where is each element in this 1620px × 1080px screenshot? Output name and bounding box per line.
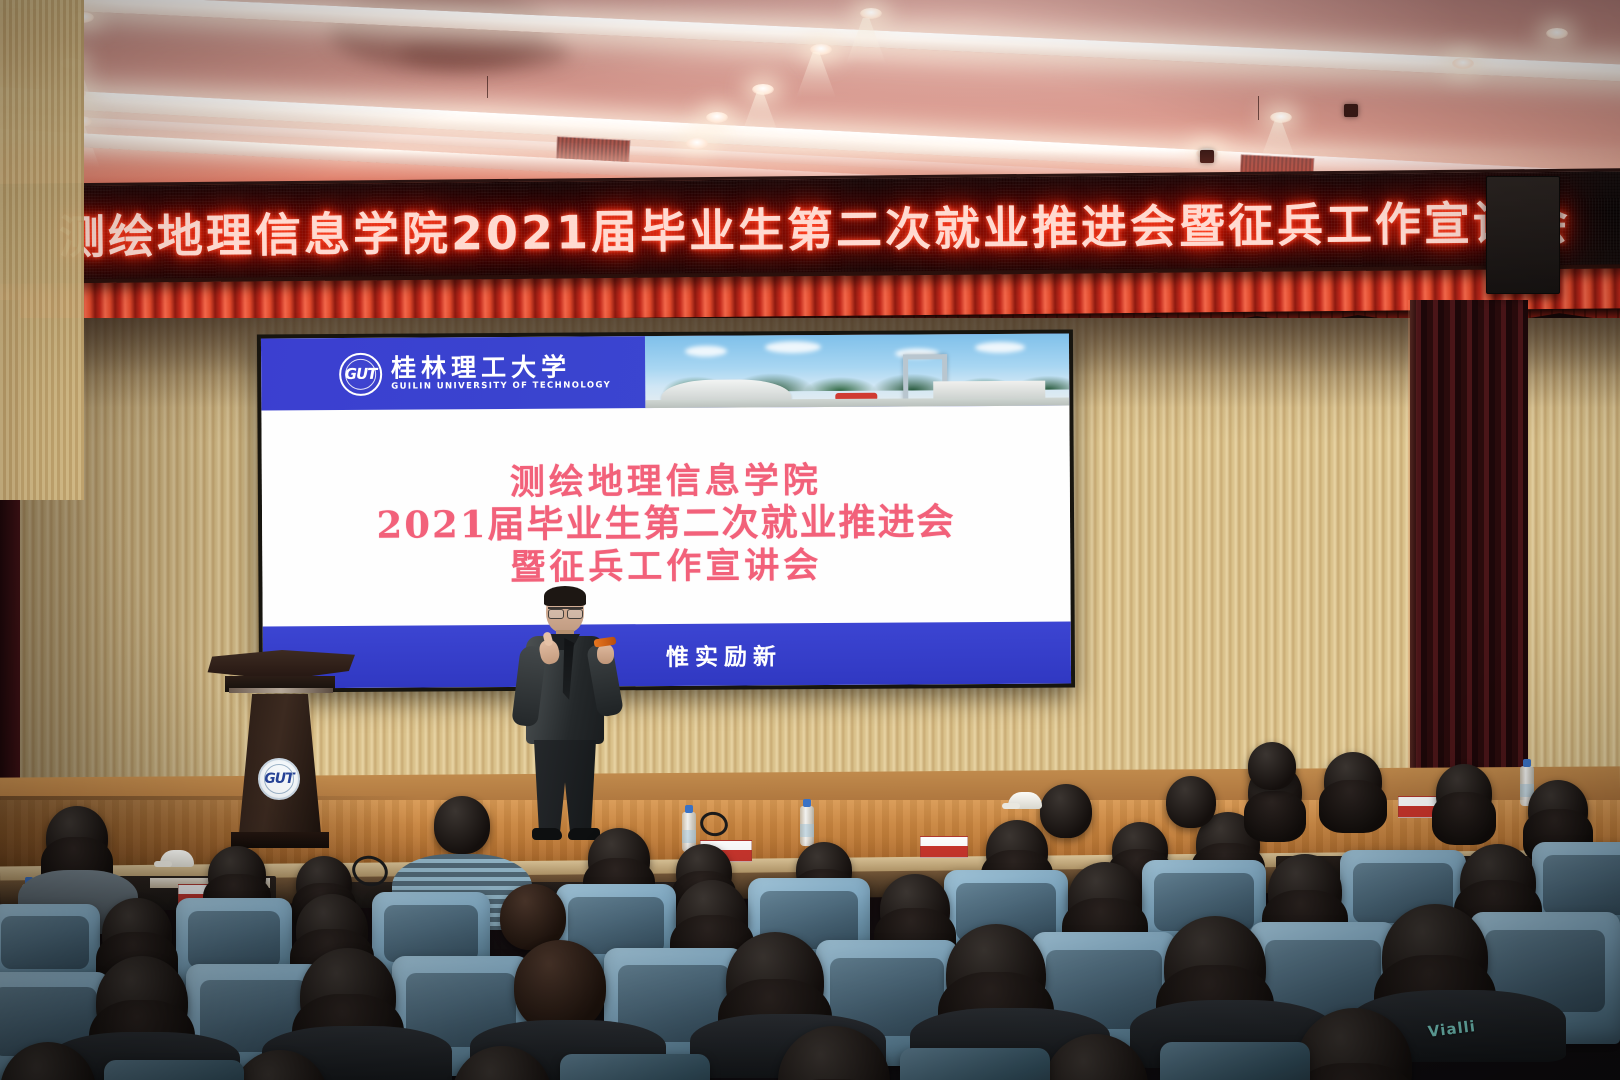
- audience-head: [434, 796, 490, 854]
- ceiling-wire: [1258, 96, 1259, 120]
- auditorium-seat: [560, 1054, 710, 1080]
- audience-head: [1166, 776, 1216, 828]
- ceiling-wire: [487, 76, 488, 98]
- audience-head: [880, 874, 950, 944]
- side-curtain-right: [1410, 300, 1528, 798]
- motto-right: 惟实励新: [666, 637, 782, 672]
- audience-head: [46, 806, 108, 870]
- audience-head: [588, 828, 650, 890]
- audience-head: [676, 880, 748, 952]
- seal-mark-text: GUT: [345, 366, 377, 381]
- podium-seal-mark-text: GUT: [264, 771, 293, 787]
- speaker-legs: [534, 740, 596, 832]
- slide-footer: 笃学 惟实励新: [263, 622, 1071, 689]
- ceiling-downlight: [686, 138, 708, 149]
- podium-university-seal-icon: GUT: [258, 758, 300, 800]
- speaker-hair: [544, 586, 586, 606]
- photo-cloud: [765, 341, 821, 353]
- university-name-en: GUILIN UNIVERSITY OF TECHNOLOGY: [391, 382, 611, 392]
- white-cap: [160, 850, 194, 867]
- slide-title-line-3: 暨征兵工作宣讲会: [510, 545, 822, 588]
- ceiling-downlight: [1546, 28, 1568, 39]
- photo-cloud: [685, 346, 727, 357]
- speaker-presenter: [508, 588, 620, 848]
- slide-title-line-2: 2021届毕业生第二次就业推进会: [376, 500, 955, 547]
- projection-screen: GUT 桂林理工大学 GUILIN UNIVERSITY OF TECHNOLO…: [261, 334, 1071, 689]
- ceiling-spotlight: [1344, 104, 1358, 117]
- auditorium-seat: [1160, 1042, 1310, 1080]
- slide-title-area: 测绘地理信息学院 2021届毕业生第二次就业推进会 暨征兵工作宣讲会: [261, 406, 1070, 627]
- audience-head: [1528, 780, 1588, 840]
- audience-head: [1268, 854, 1342, 928]
- slide-title-line-1: 测绘地理信息学院: [510, 460, 822, 503]
- microphone-icon: [594, 637, 617, 648]
- audience-head: [1068, 862, 1142, 936]
- led-banner-text: 测绘地理信息学院2021届毕业生第二次就业推进会暨征兵工作宣讲会: [59, 187, 1572, 268]
- light-beam: [740, 92, 780, 138]
- ceiling-shadow-patch: [400, 30, 570, 70]
- slide-header: GUT 桂林理工大学 GUILIN UNIVERSITY OF TECHNOLO…: [261, 334, 1069, 411]
- white-cap: [1008, 792, 1042, 809]
- podium-trim-band: [229, 688, 333, 693]
- audience-head: [1248, 742, 1296, 790]
- wall-loudspeaker: [1486, 176, 1560, 294]
- audience-head: [1436, 764, 1492, 822]
- projection-screen-frame: GUT 桂林理工大学 GUILIN UNIVERSITY OF TECHNOLO…: [257, 330, 1075, 693]
- light-beam: [796, 52, 836, 98]
- speaker-right-hand: [597, 644, 614, 664]
- university-name-group: 桂林理工大学 GUILIN UNIVERSITY OF TECHNOLOGY: [391, 355, 611, 392]
- photo-cloud: [975, 342, 1025, 353]
- lectern-podium: GUT: [203, 650, 355, 850]
- auditorium-seat: [900, 1048, 1050, 1080]
- audience-head: [514, 940, 606, 1032]
- auditorium-seat: [104, 1060, 244, 1080]
- auditorium-scene: 测绘地理信息学院2021届毕业生第二次就业推进会暨征兵工作宣讲会 GUT 桂林理…: [0, 0, 1620, 1080]
- audience-area: Vialli: [0, 836, 1620, 1080]
- campus-panorama-photo: [645, 334, 1069, 409]
- audience-head: [208, 846, 266, 904]
- audience-head: [1460, 844, 1536, 920]
- side-curtain-edge-glow: [1408, 300, 1418, 798]
- university-logo-block: GUT 桂林理工大学 GUILIN UNIVERSITY OF TECHNOLO…: [261, 351, 611, 396]
- far-right-wall-panel: [0, 0, 84, 500]
- ceiling-downlight: [1452, 58, 1474, 69]
- ceiling-downlight: [706, 112, 728, 123]
- university-seal-icon: GUT: [339, 352, 382, 395]
- audience-head: [1324, 752, 1382, 810]
- audience-head: [1040, 784, 1092, 838]
- ceiling-downlight: [860, 8, 882, 19]
- speaker-glasses-icon: [548, 607, 583, 615]
- university-name-cn: 桂林理工大学: [391, 355, 611, 381]
